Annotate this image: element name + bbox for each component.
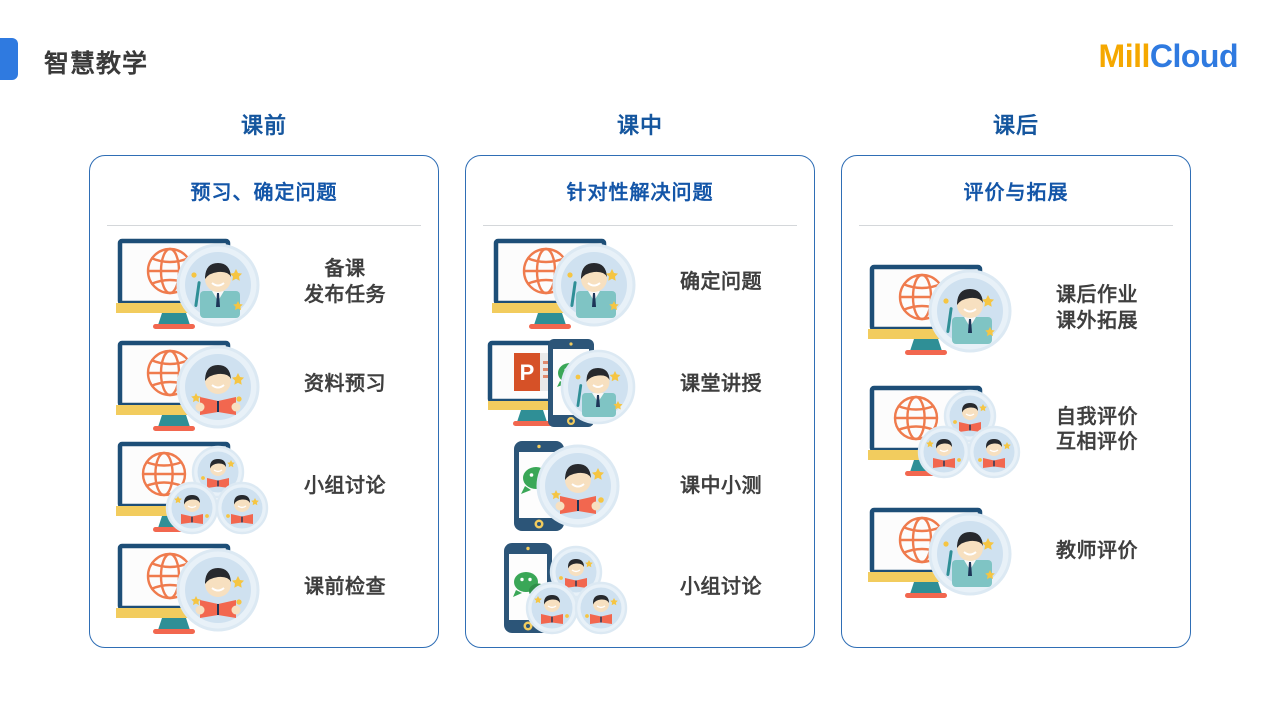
monitor-student-icon xyxy=(112,337,262,433)
monitor-student-icon xyxy=(112,540,262,636)
list-item[interactable]: 课前检查 xyxy=(90,538,438,638)
card-rows: 课后作业 课外拓展 xyxy=(842,226,1190,647)
card-rows: 备课 发布任务 xyxy=(90,226,438,647)
logo-cloud-text: Cloud xyxy=(1150,38,1238,74)
list-item-label: 自我评价 互相评价 xyxy=(1014,405,1190,456)
column-pre-class: 课前 预习、确定问题 xyxy=(89,108,439,683)
column-post-class: 课后 评价与拓展 xyxy=(841,108,1191,683)
list-item-label: 课前检查 xyxy=(262,575,438,601)
list-item-label: 资料预习 xyxy=(262,372,438,398)
list-item[interactable]: 教师评价 xyxy=(842,502,1190,602)
card-title: 针对性解决问题 xyxy=(567,176,714,205)
list-item-label: 备课 发布任务 xyxy=(262,257,438,308)
monitor-teacher-icon xyxy=(488,235,638,331)
monitor-teacher-icon xyxy=(864,504,1014,600)
brand-logo: MillCloud xyxy=(1099,38,1238,75)
accent-bar xyxy=(0,38,18,80)
list-item[interactable]: 课中小测 xyxy=(466,436,814,536)
page-title: 智慧教学 xyxy=(44,44,148,80)
monitor-ppt-tablet-teacher-icon: P xyxy=(488,337,638,433)
stage-label: 课中 xyxy=(617,108,663,140)
list-item[interactable]: 备课 发布任务 xyxy=(90,233,438,333)
stage-card: 评价与拓展 xyxy=(841,155,1191,648)
stage-card: 预习、确定问题 xyxy=(89,155,439,648)
list-item-label: 课后作业 课外拓展 xyxy=(1014,283,1190,334)
card-title: 评价与拓展 xyxy=(964,176,1069,205)
stage-label: 课前 xyxy=(241,108,287,140)
slide-root: 智慧教学 MillCloud 课前 预习、确定问题 xyxy=(0,0,1280,720)
list-item-label: 课堂讲授 xyxy=(638,372,814,398)
list-item[interactable]: 确定问题 xyxy=(466,233,814,333)
monitor-teacher-icon xyxy=(112,235,262,331)
list-item-label: 小组讨论 xyxy=(262,474,438,500)
phone-chat-student-icon xyxy=(488,438,638,534)
list-item[interactable]: 小组讨论 xyxy=(90,436,438,536)
phone-chat-group-icon xyxy=(488,540,638,636)
list-item[interactable]: 自我评价 互相评价 xyxy=(842,380,1190,480)
column-in-class: 课中 针对性解决问题 xyxy=(465,108,815,683)
monitor-group-icon xyxy=(112,438,262,534)
list-item-label: 小组讨论 xyxy=(638,575,814,601)
card-rows: 确定问题 P xyxy=(466,226,814,647)
card-title: 预习、确定问题 xyxy=(191,176,338,205)
list-item[interactable]: P xyxy=(466,335,814,435)
svg-text:P: P xyxy=(520,360,535,385)
stage-label: 课后 xyxy=(993,108,1039,140)
list-item[interactable]: 资料预习 xyxy=(90,335,438,435)
logo-mill-text: Mill xyxy=(1099,38,1150,74)
monitor-teacher-icon xyxy=(864,261,1014,357)
list-item-label: 教师评价 xyxy=(1014,539,1190,565)
list-item-label: 确定问题 xyxy=(638,270,814,296)
list-item[interactable]: 课后作业 课外拓展 xyxy=(842,259,1190,359)
list-item[interactable]: 小组讨论 xyxy=(466,538,814,638)
stage-card: 针对性解决问题 xyxy=(465,155,815,648)
monitor-group-icon xyxy=(864,382,1014,478)
stage-columns: 课前 预习、确定问题 xyxy=(0,108,1280,683)
list-item-label: 课中小测 xyxy=(638,474,814,500)
